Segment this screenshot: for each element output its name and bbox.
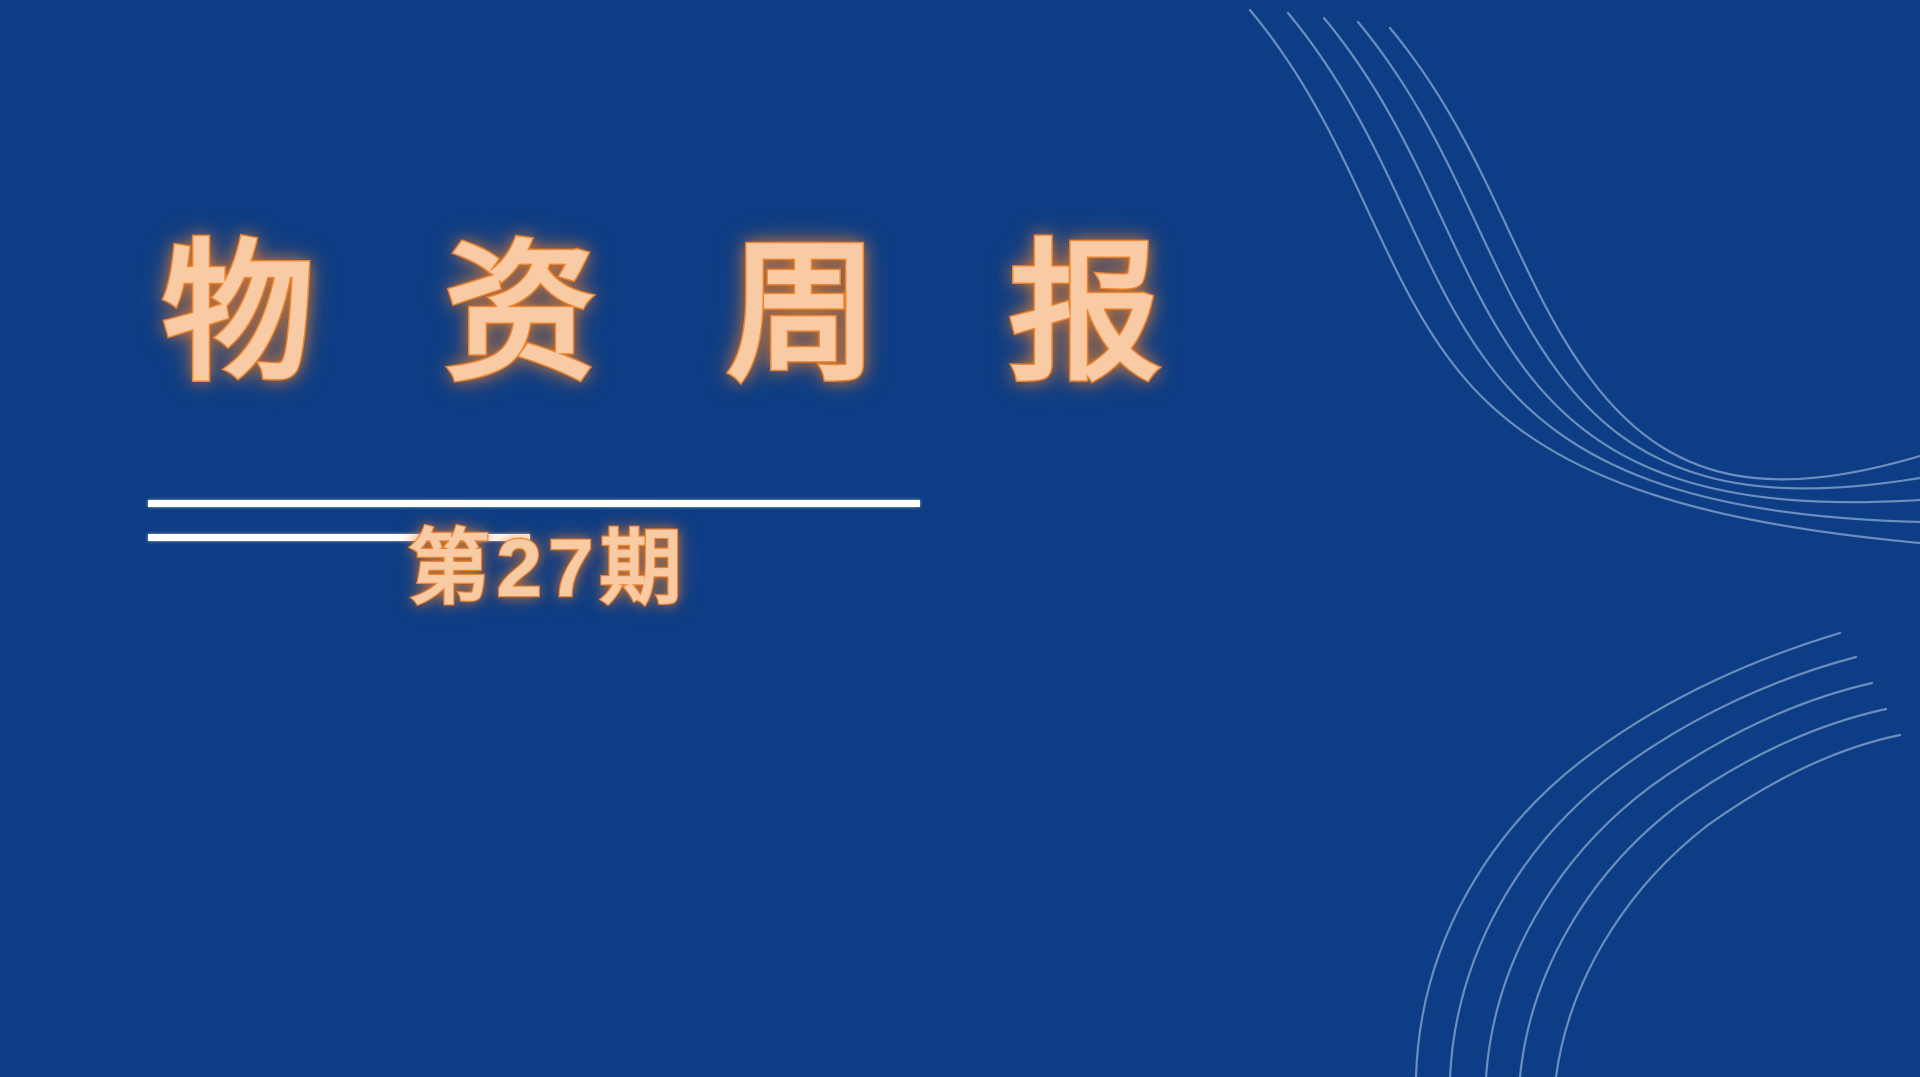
top-right-curves-svg <box>1200 0 1920 560</box>
wave-curve-5 <box>1390 28 1920 479</box>
cover-slide: 物 资 周 报 第27期 <box>0 0 1920 1077</box>
arc-curve-4 <box>1520 709 1886 1077</box>
top-right-wave-decoration <box>1200 0 1920 560</box>
bottom-right-curves-svg <box>1220 577 1920 1077</box>
issue-subtitle: 第27期 <box>148 524 948 614</box>
bottom-right-wave-decoration <box>1220 577 1920 1077</box>
wave-curve-2 <box>1288 13 1920 522</box>
arc-curve-1 <box>1416 633 1840 1077</box>
page-title: 物 资 周 报 <box>162 232 1148 396</box>
title-block: 物 资 周 报 <box>148 232 1148 396</box>
arc-curve-5 <box>1556 735 1900 1077</box>
arc-curve-2 <box>1450 657 1856 1077</box>
wave-curve-4 <box>1358 22 1920 488</box>
wave-curve-3 <box>1324 18 1920 502</box>
arc-curve-3 <box>1486 683 1872 1077</box>
title-underline-long <box>148 500 920 507</box>
wave-curve-1 <box>1250 10 1920 543</box>
